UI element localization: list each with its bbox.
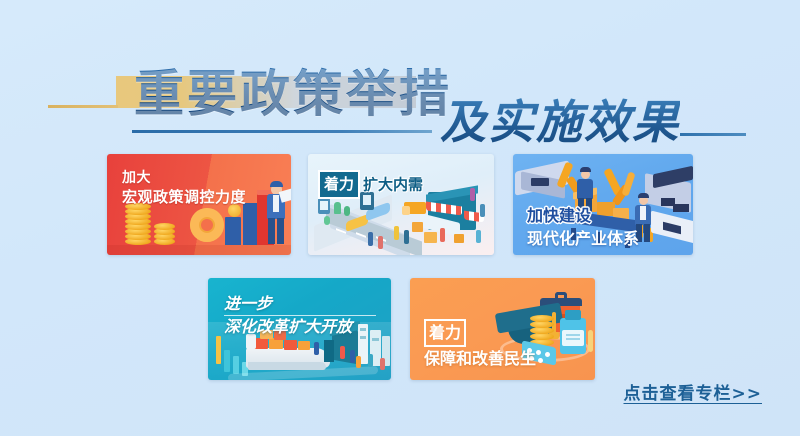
title-blue-underline	[132, 130, 432, 133]
banner-title-block: 重要政策举措 及实施效果	[0, 34, 800, 130]
card-caption: 着力 保障和改善民生	[424, 319, 536, 371]
card-line1: 着力	[318, 170, 360, 199]
card-line2: 现代化产业体系	[527, 227, 639, 250]
card-caption: 加大 宏观政策调控力度	[122, 169, 246, 207]
page-subtitle: 及实施效果	[440, 96, 680, 148]
card-line2: 深化改革扩大开放	[224, 315, 352, 338]
title-blue-rule-right	[680, 133, 746, 136]
card-caption-divider	[224, 315, 376, 316]
card-line2: 扩大内需	[363, 176, 423, 194]
card-modern-industry[interactable]: 加快建设 现代化产业体系	[513, 154, 693, 255]
card-line1: 进一步	[224, 292, 352, 315]
title-gold-rule	[48, 105, 118, 108]
card-expand-demand[interactable]: 着力扩大内需	[308, 154, 494, 255]
card-line2: 保障和改善民生	[424, 347, 536, 371]
view-column-link[interactable]: 点击查看专栏>>	[624, 379, 763, 404]
policy-banner: 重要政策举措 及实施效果	[0, 0, 800, 436]
card-line1: 加快建设	[527, 204, 639, 227]
card-caption: 加快建设 现代化产业体系	[527, 204, 639, 250]
card-macro-policy[interactable]: 加大 宏观政策调控力度	[107, 154, 291, 255]
card-line1: 加大	[122, 169, 246, 188]
page-title: 重要政策举措	[134, 66, 452, 122]
card-line1: 着力	[424, 319, 466, 347]
card-caption: 着力扩大内需	[318, 170, 423, 199]
card-line2: 宏观政策调控力度	[122, 188, 246, 207]
card-deepen-reform[interactable]: 进一步 深化改革扩大开放	[208, 278, 391, 380]
card-improve-livelihood[interactable]: 着力 保障和改善民生	[410, 278, 595, 380]
